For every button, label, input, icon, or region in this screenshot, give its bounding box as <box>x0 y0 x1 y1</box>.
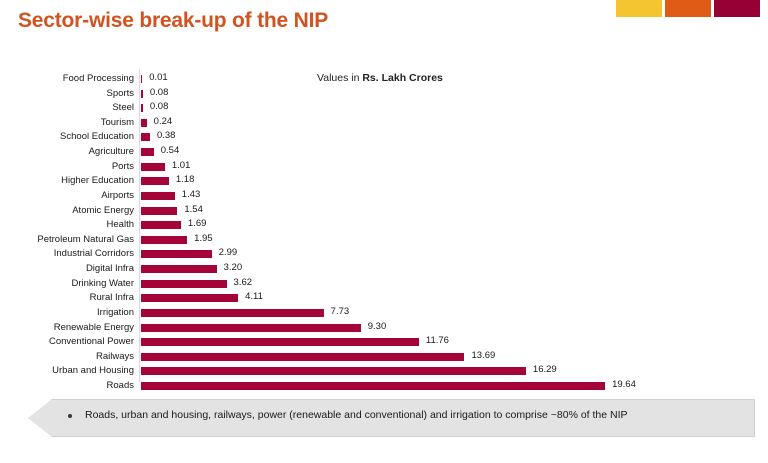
bar-fill <box>141 294 238 302</box>
bar-category-label: Health <box>107 219 134 231</box>
bar-category-label: Ports <box>112 161 134 173</box>
bar-fill <box>141 90 143 98</box>
bar-track <box>141 353 464 361</box>
bar-row: Irrigation7.73 <box>0 306 768 320</box>
bar-category-label: Drinking Water <box>72 278 134 290</box>
bar-fill <box>141 104 143 112</box>
bar-fill <box>141 280 227 288</box>
bar-fill <box>141 221 181 229</box>
bar-value-label: 1.54 <box>184 204 203 216</box>
bar-fill <box>141 250 212 258</box>
bar-track <box>141 324 361 332</box>
bar-fill <box>141 163 165 171</box>
bar-category-label: Conventional Power <box>49 336 134 348</box>
bar-track <box>141 280 227 288</box>
bar-category-label: Steel <box>112 102 134 114</box>
bar-category-label: Higher Education <box>61 175 134 187</box>
callout-banner: Roads, urban and housing, railways, powe… <box>28 399 755 437</box>
bar-row: Railways13.69 <box>0 350 768 364</box>
bar-fill <box>141 148 154 156</box>
bullet-point-icon <box>68 414 72 418</box>
bar-track <box>141 294 238 302</box>
bar-category-label: Digital Infra <box>86 263 134 275</box>
bar-value-label: 16.29 <box>533 364 557 376</box>
bar-value-label: 0.08 <box>150 87 169 99</box>
bar-value-label: 1.69 <box>188 218 207 230</box>
bar-category-label: Sports <box>107 88 134 100</box>
bar-row: Conventional Power11.76 <box>0 335 768 349</box>
bar-category-label: Renewable Energy <box>54 322 134 334</box>
bar-track <box>141 221 181 229</box>
bar-fill <box>141 309 324 317</box>
bar-row: Ports1.01 <box>0 160 768 174</box>
bar-category-label: Agriculture <box>89 146 134 158</box>
bar-value-label: 1.01 <box>172 160 191 172</box>
callout-text: Roads, urban and housing, railways, powe… <box>85 409 628 421</box>
bar-fill <box>141 353 464 361</box>
bar-fill <box>141 192 175 200</box>
bar-track <box>141 367 526 375</box>
bar-category-label: Airports <box>101 190 134 202</box>
bar-row: Steel0.08 <box>0 101 768 115</box>
bar-category-label: Tourism <box>101 117 134 129</box>
bar-category-label: Rural Infra <box>90 292 134 304</box>
bar-value-label: 0.38 <box>157 130 176 142</box>
bar-value-label: 1.18 <box>176 174 195 186</box>
bar-row: Higher Education1.18 <box>0 174 768 188</box>
bar-value-label: 3.20 <box>224 262 243 274</box>
bar-value-label: 7.73 <box>331 306 350 318</box>
bar-category-label: Food Processing <box>63 73 134 85</box>
bar-track <box>141 75 142 83</box>
bar-fill <box>141 75 142 83</box>
decorative-color-blocks <box>616 0 760 17</box>
page-title: Sector-wise break-up of the NIP <box>18 9 328 33</box>
bar-category-label: School Education <box>60 131 134 143</box>
bar-track <box>141 192 175 200</box>
bar-value-label: 3.62 <box>234 277 253 289</box>
bar-value-label: 1.43 <box>182 189 201 201</box>
bar-fill <box>141 338 419 346</box>
bar-fill <box>141 207 177 215</box>
bar-fill <box>141 133 150 141</box>
bar-track <box>141 163 165 171</box>
bar-value-label: 0.08 <box>150 101 169 113</box>
bar-fill <box>141 119 147 127</box>
bar-row: Rural Infra4.11 <box>0 291 768 305</box>
bar-category-label: Atomic Energy <box>72 205 134 217</box>
bar-track <box>141 338 419 346</box>
bar-track <box>141 382 605 390</box>
bar-row: Health1.69 <box>0 218 768 232</box>
bar-row: Drinking Water3.62 <box>0 277 768 291</box>
bar-track <box>141 104 143 112</box>
bar-value-label: 19.64 <box>612 379 636 391</box>
bar-value-label: 11.76 <box>426 335 449 347</box>
bar-row: Food Processing0.01 <box>0 72 768 86</box>
bar-row: Atomic Energy1.54 <box>0 204 768 218</box>
deco-block-orange <box>665 0 711 17</box>
bar-row: Urban and Housing16.29 <box>0 364 768 378</box>
bar-category-label: Roads <box>107 380 134 392</box>
bar-row: Roads19.64 <box>0 379 768 393</box>
bar-row: Petroleum Natural Gas1.95 <box>0 233 768 247</box>
bar-fill <box>141 265 217 273</box>
bar-fill <box>141 324 361 332</box>
bar-value-label: 0.54 <box>161 145 180 157</box>
bar-track <box>141 133 150 141</box>
bar-row: Sports0.08 <box>0 87 768 101</box>
bar-track <box>141 177 169 185</box>
bar-fill <box>141 382 605 390</box>
bar-track <box>141 90 143 98</box>
bar-category-label: Railways <box>96 351 134 363</box>
bar-row: Digital Infra3.20 <box>0 262 768 276</box>
bar-row: Industrial Corridors2.99 <box>0 247 768 261</box>
bar-value-label: 9.30 <box>368 321 387 333</box>
bar-category-label: Irrigation <box>97 307 134 319</box>
bar-track <box>141 250 212 258</box>
bar-value-label: 0.01 <box>149 72 168 84</box>
bar-track <box>141 148 154 156</box>
deco-block-maroon <box>714 0 760 17</box>
deco-block-yellow <box>616 0 662 17</box>
bar-value-label: 1.95 <box>194 233 213 245</box>
bar-row: Tourism0.24 <box>0 116 768 130</box>
bar-row: School Education0.38 <box>0 130 768 144</box>
bar-row: Renewable Energy9.30 <box>0 321 768 335</box>
bar-row: Agriculture0.54 <box>0 145 768 159</box>
bar-track <box>141 309 324 317</box>
bar-category-label: Urban and Housing <box>52 365 134 377</box>
bar-value-label: 0.24 <box>154 116 173 128</box>
bar-fill <box>141 177 169 185</box>
bar-value-label: 4.11 <box>245 291 263 303</box>
bar-fill <box>141 236 187 244</box>
bar-track <box>141 207 177 215</box>
bar-value-label: 2.99 <box>219 247 238 259</box>
bar-category-label: Industrial Corridors <box>54 248 134 260</box>
bar-track <box>141 236 187 244</box>
bar-fill <box>141 367 526 375</box>
bar-row: Airports1.43 <box>0 189 768 203</box>
bar-category-label: Petroleum Natural Gas <box>37 234 134 246</box>
bar-value-label: 13.69 <box>471 350 495 362</box>
bar-track <box>141 265 217 273</box>
sector-breakup-bar-chart: Values in Rs. Lakh Crores Food Processin… <box>0 64 768 389</box>
bar-track <box>141 119 147 127</box>
